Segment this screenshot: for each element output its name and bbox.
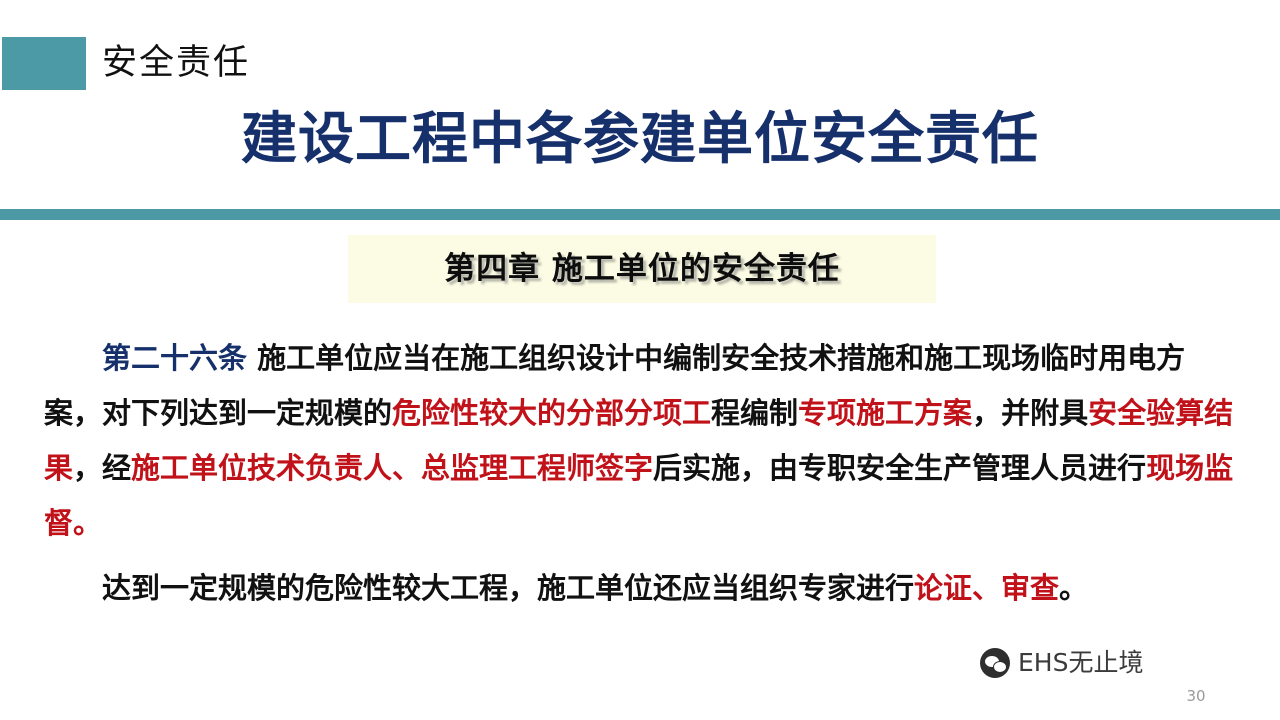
plain-run: ，并附具 bbox=[972, 396, 1088, 430]
highlighted-run: 危险性较大的分部分项工 bbox=[392, 396, 711, 430]
closing-paragraph: 达到一定规模的危险性较大工程，施工单位还应当组织专家进行论证、审查。 bbox=[44, 561, 1240, 616]
header-accent-swatch bbox=[2, 37, 86, 90]
plain-run: 程编制 bbox=[711, 396, 798, 430]
plain-run: ，经 bbox=[73, 451, 131, 485]
page-title: 建设工程中各参建单位安全责任 bbox=[0, 104, 1280, 176]
wechat-icon bbox=[980, 648, 1010, 678]
chapter-banner: 第四章 施工单位的安全责任 bbox=[348, 235, 936, 303]
highlighted-run: 论证、审查 bbox=[914, 571, 1059, 605]
watermark: EHS无止境 bbox=[980, 648, 1143, 678]
slide-kicker: 安全责任 bbox=[102, 38, 250, 88]
chapter-title: 第四章 施工单位的安全责任 bbox=[348, 248, 936, 290]
plain-run: 后实施，由专职安全生产管理人员进行 bbox=[653, 451, 1146, 485]
highlighted-run: 专项施工方案 bbox=[798, 396, 972, 430]
watermark-label: EHS无止境 bbox=[1018, 648, 1143, 678]
header-divider-rule bbox=[0, 209, 1280, 220]
body-copy: 第二十六条 施工单位应当在施工组织设计中编制安全技术措施和施工现场临时用电方案，… bbox=[44, 331, 1240, 616]
wechat-icon-bubble-front bbox=[993, 661, 1007, 673]
plain-run: 达到一定规模的危险性较大工程，施工单位还应当组织专家进行 bbox=[102, 571, 914, 605]
clause-number: 第二十六条 bbox=[102, 341, 247, 375]
page-number: 30 bbox=[1181, 686, 1211, 706]
plain-run: 。 bbox=[1059, 571, 1088, 605]
highlighted-run: 施工单位技术负责人、总监理工程师签字 bbox=[131, 451, 653, 485]
clause-paragraph: 第二十六条 施工单位应当在施工组织设计中编制安全技术措施和施工现场临时用电方案，… bbox=[44, 331, 1240, 551]
closing-paragraph-text: 达到一定规模的危险性较大工程，施工单位还应当组织专家进行论证、审查。 bbox=[102, 571, 1088, 605]
